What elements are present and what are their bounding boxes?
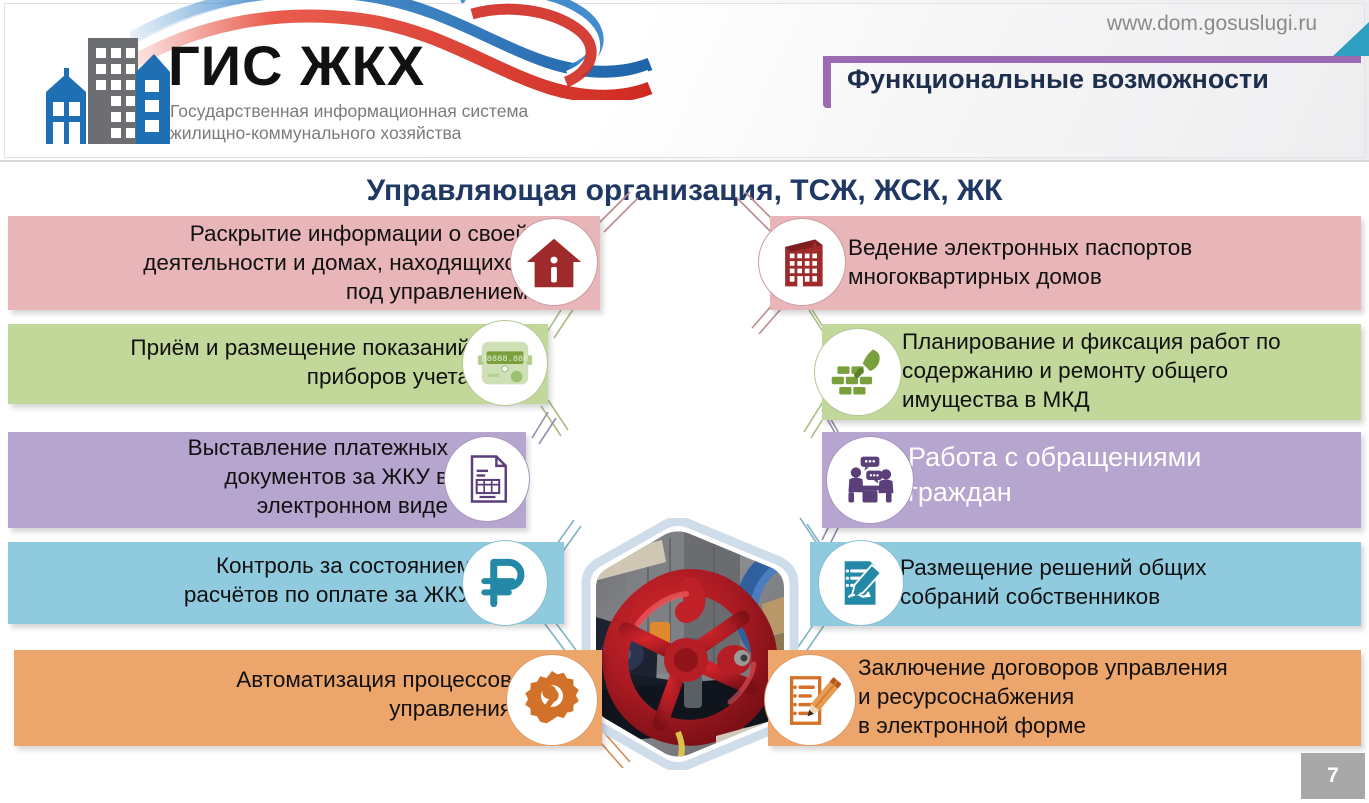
page-number: 7 <box>1301 753 1365 799</box>
feature-left-2-line-1: Приём и размещение показаний <box>20 334 470 363</box>
feature-left-5-line-1: Автоматизация процессов <box>26 666 512 695</box>
feature-right-4-label: Размещение решений общих собраний собств… <box>900 554 1352 612</box>
brand-subtitle: Государственная информационная система ж… <box>170 101 630 145</box>
feature-left-4-label: Контроль за состоянием расчётов по оплат… <box>20 552 472 610</box>
slide-header: ГИС ЖКХ Государственная информационная с… <box>0 0 1369 162</box>
meeting-dialog-icon <box>826 436 914 524</box>
feature-right-1-label: Ведение электронных паспортов многокварт… <box>848 234 1348 292</box>
section-banner-left-rule <box>823 56 831 108</box>
feature-left-1-line-2: деятельности и домах, находящихся <box>28 249 528 278</box>
feature-left-3-line-3: электронном виде <box>20 492 448 521</box>
gis-zhkh-logo-icon <box>44 32 172 150</box>
feature-left-1-line-1: Раскрытие информации о своей <box>28 220 528 249</box>
feature-right-4-line-1: Размещение решений общих <box>900 554 1352 583</box>
apartment-building-icon <box>758 218 846 306</box>
feature-left-1-line-3: под управлением <box>28 278 528 307</box>
feature-left-2-label: Приём и размещение показаний приборов уч… <box>20 334 470 392</box>
feature-right-5-line-3: в электронной форме <box>858 712 1358 741</box>
corner-triangle-icon <box>1333 22 1369 56</box>
bricks-trowel-icon <box>814 328 902 416</box>
gear-wrench-icon <box>506 654 598 746</box>
feature-right-5-line-1: Заключение договоров управления <box>858 654 1358 683</box>
brand-subtitle-line-2: жилищно-коммунального хозяйства <box>170 123 630 145</box>
feature-left-3-line-1: Выставление платежных <box>20 434 448 463</box>
brand-title: ГИС ЖКХ <box>168 38 425 94</box>
feature-right-3-line-1: Работа с обращениями <box>908 440 1358 475</box>
brand-subtitle-line-1: Государственная информационная система <box>170 101 630 123</box>
ruble-icon <box>462 540 548 626</box>
feature-left-5-label: Автоматизация процессов управления <box>26 666 512 724</box>
section-banner: Функциональные возможности <box>823 56 1361 108</box>
feature-right-2-label: Планирование и фиксация работ по содержа… <box>902 328 1354 414</box>
feature-left-4-line-1: Контроль за состоянием <box>20 552 472 581</box>
feature-right-2-line-3: имущества в МКД <box>902 386 1354 415</box>
feature-right-2-line-1: Планирование и фиксация работ по <box>902 328 1354 357</box>
section-banner-label: Функциональные возможности <box>847 64 1269 95</box>
feature-left-5-line-2: управления <box>26 695 512 724</box>
home-info-icon <box>510 218 598 306</box>
feature-right-1-line-2: многоквартирных домов <box>848 263 1348 292</box>
slide-body: Управляющая организация, ТСЖ, ЖСК, ЖК <box>0 162 1369 803</box>
feature-right-5-line-2: и ресурсоснабжения <box>858 683 1358 712</box>
meter-reading-text: 88888.888 <box>481 354 528 364</box>
site-url: www.dom.gosuslugi.ru <box>1107 12 1317 36</box>
feature-right-4-line-2: собраний собственников <box>900 583 1352 612</box>
feature-right-3-line-2: граждан <box>908 475 1358 510</box>
feature-right-1-line-1: Ведение электронных паспортов <box>848 234 1348 263</box>
section-banner-top-rule <box>823 56 1361 63</box>
feature-left-3-line-2: документов за ЖКУ в <box>20 463 448 492</box>
signed-document-icon <box>818 540 904 626</box>
feature-left-3-label: Выставление платежных документов за ЖКУ … <box>20 434 448 520</box>
feature-left-1-label: Раскрытие информации о своей деятельност… <box>28 220 528 306</box>
feature-left-4-line-2: расчётов по оплате за ЖКУ <box>20 581 472 610</box>
feature-right-5-label: Заключение договоров управления и ресурс… <box>858 654 1358 740</box>
slide: ГИС ЖКХ Государственная информационная с… <box>0 0 1369 803</box>
meter-icon: 88888.888 <box>462 320 548 406</box>
feature-right-3-label: Работа с обращениями граждан <box>908 440 1358 509</box>
contract-pencil-icon <box>764 654 856 746</box>
invoice-document-icon <box>444 436 530 522</box>
feature-right-2-line-2: содержанию и ремонту общего <box>902 357 1354 386</box>
feature-left-2-line-2: приборов учета <box>20 363 470 392</box>
